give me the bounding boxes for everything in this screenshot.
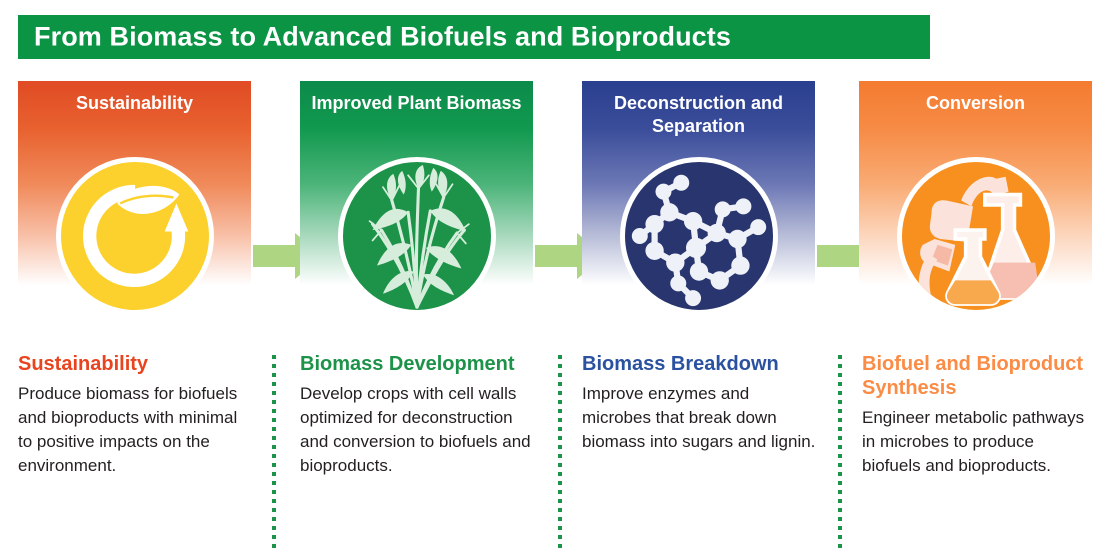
description-row: Sustainability Produce biomass for biofu… <box>0 352 1111 559</box>
molecule-icon <box>620 157 778 315</box>
stage-panel-deconstruction-and-separation: Deconstruction and Separation <box>582 81 815 296</box>
process-stage-row: Sustainability Improved Plant Biomass <box>0 81 1111 331</box>
description-heading-biomass-breakdown: Biomass Breakdown <box>582 352 822 376</box>
dotted-vertical-divider <box>558 355 562 551</box>
stage-panel-sustainability: Sustainability <box>18 81 251 296</box>
stage-title-sustainability: Sustainability <box>26 92 243 115</box>
description-body-sustainability: Produce biomass for biofuels and bioprod… <box>18 382 256 478</box>
description-heading-biofuel-and-bioproduct-synthesis: Biofuel and Bioproduct Synthesis <box>862 352 1092 400</box>
switchgrass-plant-icon <box>338 157 496 315</box>
description-biomass-development: Biomass Development Develop crops with c… <box>300 352 545 559</box>
fuel-nozzle-flasks-icon <box>897 157 1055 315</box>
page-title: From Biomass to Advanced Biofuels and Bi… <box>34 22 731 53</box>
description-sustainability: Sustainability Produce biomass for biofu… <box>18 352 256 559</box>
description-body-biomass-breakdown: Improve enzymes and microbes that break … <box>582 382 822 454</box>
description-body-biomass-development: Develop crops with cell walls optimized … <box>300 382 545 478</box>
description-biofuel-and-bioproduct-synthesis: Biofuel and Bioproduct Synthesis Enginee… <box>862 352 1092 559</box>
stage-title-improved-plant-biomass: Improved Plant Biomass <box>308 92 525 115</box>
dotted-vertical-divider <box>272 355 276 551</box>
recycle-leaf-icon <box>56 157 214 315</box>
description-heading-sustainability: Sustainability <box>18 352 256 376</box>
stage-panel-improved-plant-biomass: Improved Plant Biomass <box>300 81 533 296</box>
stage-title-conversion: Conversion <box>867 92 1084 115</box>
header-bar: From Biomass to Advanced Biofuels and Bi… <box>18 15 930 59</box>
stage-title-deconstruction-and-separation: Deconstruction and Separation <box>590 92 807 138</box>
dotted-vertical-divider <box>838 355 842 551</box>
stage-panel-conversion: Conversion <box>859 81 1092 296</box>
description-biomass-breakdown: Biomass Breakdown Improve enzymes and mi… <box>582 352 822 559</box>
description-body-biofuel-and-bioproduct-synthesis: Engineer metabolic pathways in microbes … <box>862 406 1092 478</box>
description-heading-biomass-development: Biomass Development <box>300 352 545 376</box>
